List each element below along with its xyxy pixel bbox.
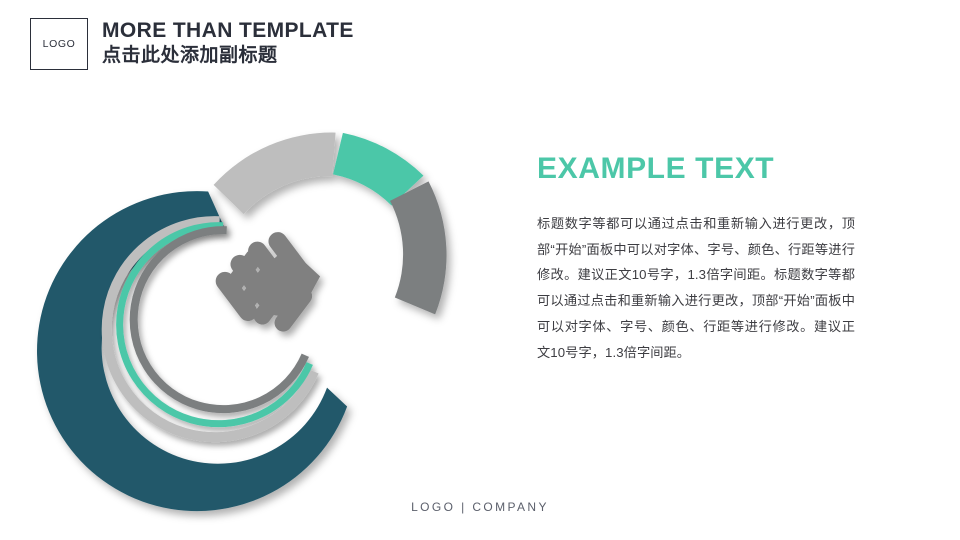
ring-chart-graphic — [95, 105, 440, 435]
slide-header: LOGO MORE THAN TEMPLATE 点击此处添加副标题 — [30, 18, 354, 70]
content-column: EXAMPLE TEXT 标题数字等都可以通过点击和重新输入进行更改，顶部“开始… — [537, 152, 855, 365]
slide-footer: LOGO | COMPANY — [0, 498, 960, 516]
content-paragraph: 标题数字等都可以通过点击和重新输入进行更改，顶部“开始”面板中可以对字体、字号、… — [537, 211, 855, 365]
header-text-group: MORE THAN TEMPLATE 点击此处添加副标题 — [102, 19, 354, 70]
ring-chart-svg — [95, 105, 440, 435]
page-title: MORE THAN TEMPLATE — [102, 19, 354, 43]
content-heading: EXAMPLE TEXT — [537, 152, 855, 185]
logo-placeholder-label: LOGO — [43, 38, 76, 50]
segment-dark-gray[interactable] — [390, 181, 446, 314]
handshake-icon — [209, 225, 320, 341]
outer-ring-segments — [37, 133, 446, 512]
footer-label: LOGO | COMPANY — [411, 500, 549, 514]
logo-placeholder-box[interactable]: LOGO — [30, 18, 88, 70]
segment-light-gray[interactable] — [214, 133, 336, 215]
page-subtitle: 点击此处添加副标题 — [102, 45, 354, 68]
